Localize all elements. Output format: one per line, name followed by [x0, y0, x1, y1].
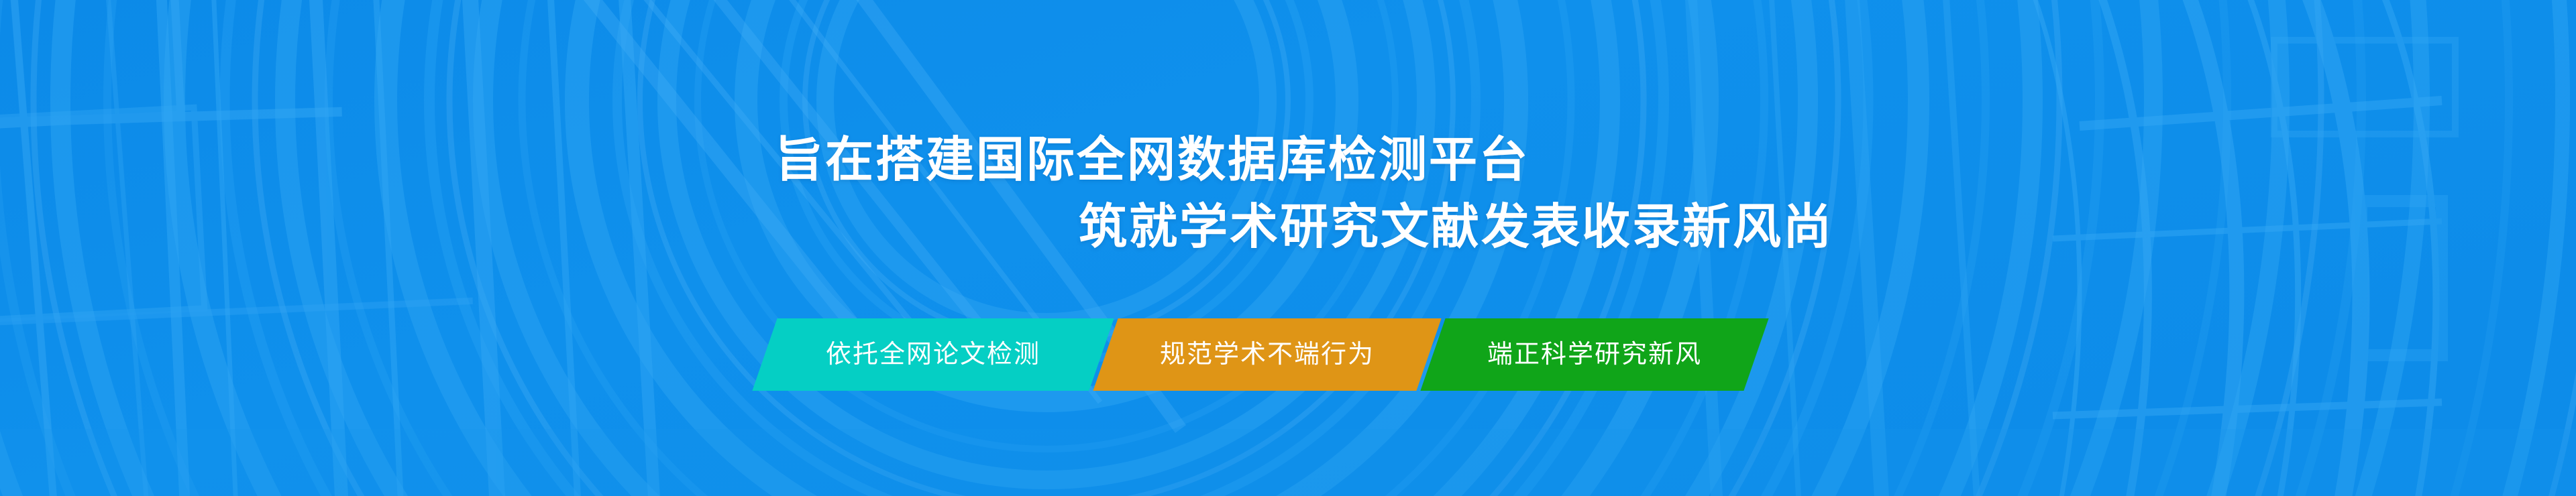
headline-line-2: 筑就学术研究文献发表收录新风尚 — [1079, 203, 1833, 251]
headline-block: 旨在搭建国际全网数据库检测平台 筑就学术研究文献发表收录新风尚 — [0, 0, 2576, 496]
feature-tag-bar: 依托全网论文检测 规范学术不端行为 端正科学研究新风 — [765, 318, 1756, 391]
feature-tag-paper-detection[interactable]: 依托全网论文检测 — [752, 318, 1114, 391]
feature-tag-label: 端正科学研究新风 — [1487, 342, 1702, 367]
feature-tag-label: 规范学术不端行为 — [1160, 342, 1375, 367]
feature-tag-research-ethos[interactable]: 端正科学研究新风 — [1420, 318, 1768, 391]
feature-tag-label: 依托全网论文检测 — [826, 342, 1040, 367]
promo-banner: 旨在搭建国际全网数据库检测平台 筑就学术研究文献发表收录新风尚 依托全网论文检测… — [0, 0, 2576, 496]
feature-tag-academic-misconduct[interactable]: 规范学术不端行为 — [1093, 318, 1441, 391]
headline-line-1: 旨在搭建国际全网数据库检测平台 — [775, 136, 1529, 184]
